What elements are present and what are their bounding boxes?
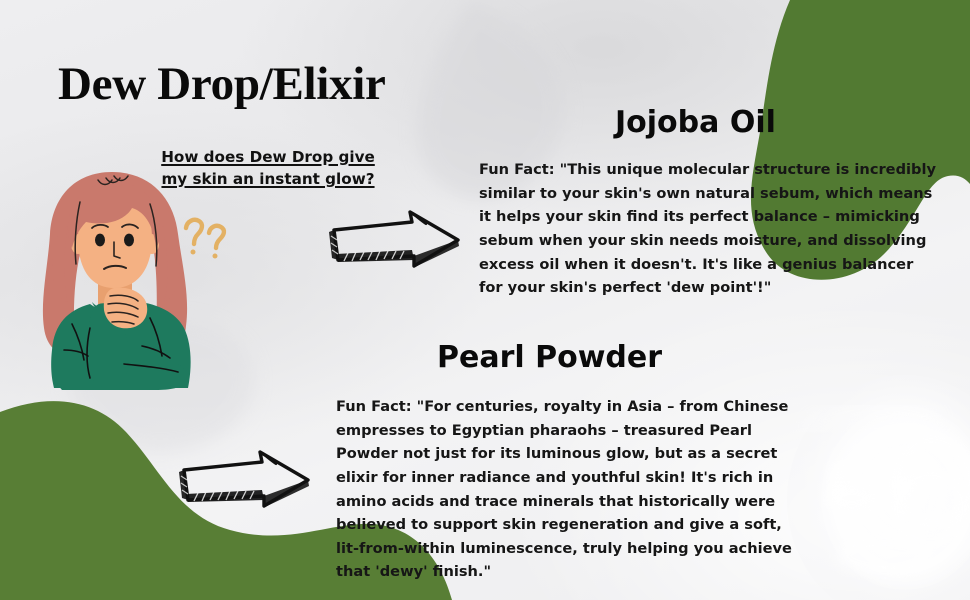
thinking-woman-illustration xyxy=(28,168,208,390)
eye-left xyxy=(95,234,105,247)
section-body-jojoba: Fun Fact: "This unique molecular structu… xyxy=(479,158,941,300)
question-marks-icon xyxy=(178,214,234,270)
hand-drawn-right-arrow-icon-pearl xyxy=(176,444,316,522)
page-title: Dew Drop/Elixir xyxy=(58,60,386,109)
section-body-pearl: Fun Fact: "For centuries, royalty in Asi… xyxy=(336,395,804,584)
hand-drawn-right-arrow-icon-jojoba xyxy=(326,204,466,282)
gel-droplet-texture xyxy=(787,375,970,600)
infographic-canvas: Dew Drop/Elixir How does Dew Drop give m… xyxy=(0,0,970,600)
section-title-pearl: Pearl Powder xyxy=(437,340,662,375)
eye-right xyxy=(124,234,134,247)
section-title-jojoba: Jojoba Oil xyxy=(615,105,776,140)
